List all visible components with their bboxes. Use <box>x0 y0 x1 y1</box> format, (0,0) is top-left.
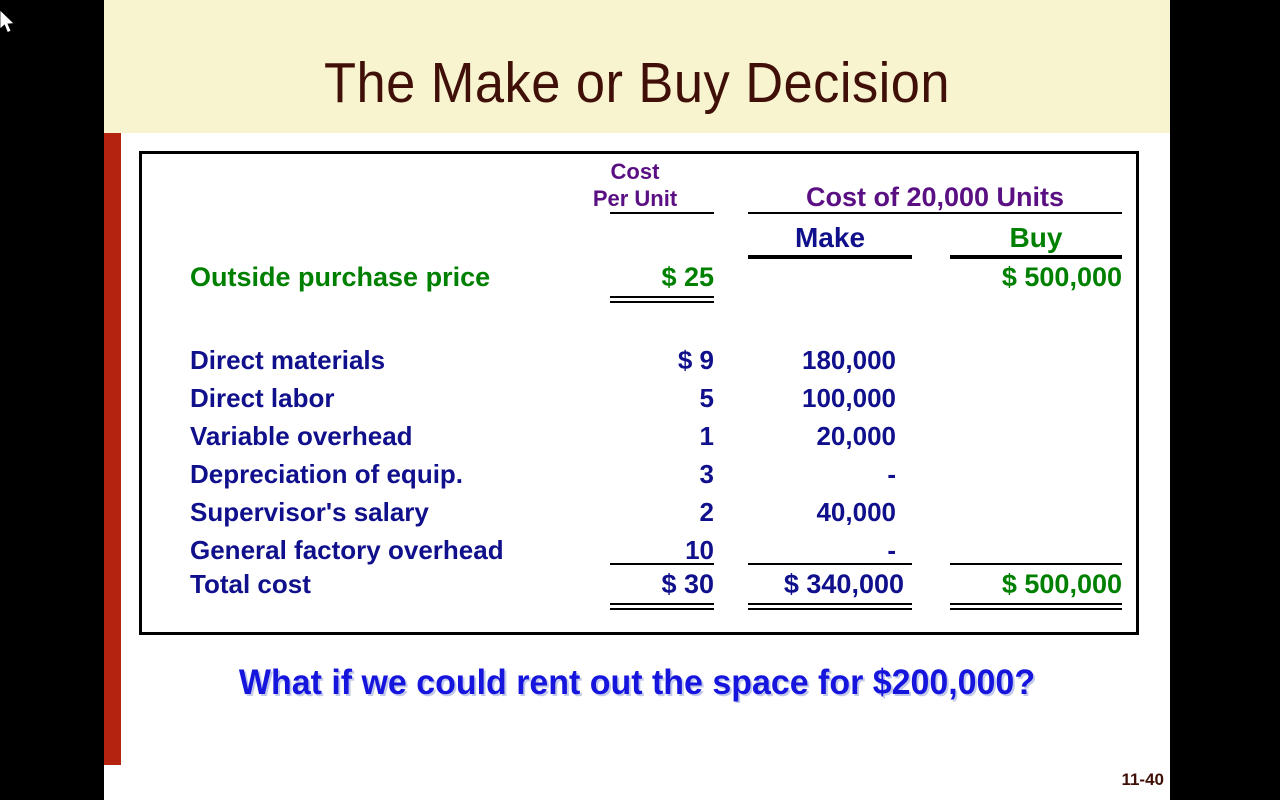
cost-comparison-table: Cost Per Unit Cost of 20,000 Units Make … <box>139 151 1139 635</box>
row-label-3: Depreciation of equip. <box>190 461 463 487</box>
cell-5-per-unit: 10 <box>582 537 714 563</box>
row-label-4: Supervisor's salary <box>190 499 429 525</box>
page-title: The Make or Buy Decision <box>147 55 1128 112</box>
rule-total-make-bottom-1 <box>748 603 912 605</box>
cell-0-make: 180,000 <box>748 347 896 373</box>
slide-screen: The Make or Buy Decision Cost Per Unit C… <box>0 0 1280 800</box>
cell-total-per-unit: $ 30 <box>602 571 714 598</box>
cell-1-per-unit: 5 <box>582 385 714 411</box>
row-label-total: Total cost <box>190 571 311 597</box>
rule-total-make-top <box>748 563 912 565</box>
cell-outside-purchase-price-per-unit: $ 25 <box>602 264 714 291</box>
cell-3-per-unit: 3 <box>582 461 714 487</box>
cell-1-make: 100,000 <box>748 385 896 411</box>
slide-canvas: The Make or Buy Decision Cost Per Unit C… <box>104 0 1170 800</box>
cell-5-make: - <box>748 537 896 563</box>
question-text: What if we could rent out the space for … <box>120 663 1154 703</box>
cell-3-make: - <box>748 461 896 487</box>
rule-total-buy-bottom-2 <box>950 608 1122 610</box>
title-banner: The Make or Buy Decision <box>104 0 1170 133</box>
cell-2-per-unit: 1 <box>582 423 714 449</box>
header-cost-of-units: Cost of 20,000 Units <box>748 184 1122 211</box>
row-label-outside-purchase-price: Outside purchase price <box>190 264 490 291</box>
rule-purchase-per-unit-bottom <box>610 301 714 303</box>
rule-make-header <box>748 255 912 259</box>
rule-total-per-unit-bottom-2 <box>610 608 714 610</box>
rule-total-buy-top <box>950 563 1122 565</box>
rule-purchase-per-unit-top <box>610 296 714 298</box>
mouse-cursor-icon <box>0 10 18 36</box>
row-label-0: Direct materials <box>190 347 385 373</box>
cell-4-make: 40,000 <box>748 499 896 525</box>
rule-total-per-unit-top <box>610 563 714 565</box>
cell-2-make: 20,000 <box>748 423 896 449</box>
rule-buy-header <box>950 255 1122 259</box>
rule-total-per-unit-bottom-1 <box>610 603 714 605</box>
cell-total-buy: $ 500,000 <box>950 571 1122 598</box>
row-label-2: Variable overhead <box>190 423 413 449</box>
cell-0-per-unit: $ 9 <box>582 347 714 373</box>
header-buy: Buy <box>950 224 1122 252</box>
cell-total-make: $ 340,000 <box>748 571 904 598</box>
row-label-5: General factory overhead <box>190 537 504 563</box>
rule-per-unit-header <box>610 212 714 214</box>
rule-total-make-bottom-2 <box>748 608 912 610</box>
rule-cost-of-units-header <box>748 212 1122 214</box>
cell-4-per-unit: 2 <box>582 499 714 525</box>
cell-outside-purchase-price-buy: $ 500,000 <box>950 264 1122 291</box>
row-label-1: Direct labor <box>190 385 335 411</box>
header-per-unit: Per Unit <box>570 188 700 210</box>
page-number: 11-40 <box>1084 770 1164 790</box>
rule-total-buy-bottom-1 <box>950 603 1122 605</box>
header-cost: Cost <box>580 161 690 183</box>
header-make: Make <box>748 224 912 252</box>
accent-bar <box>104 133 121 765</box>
